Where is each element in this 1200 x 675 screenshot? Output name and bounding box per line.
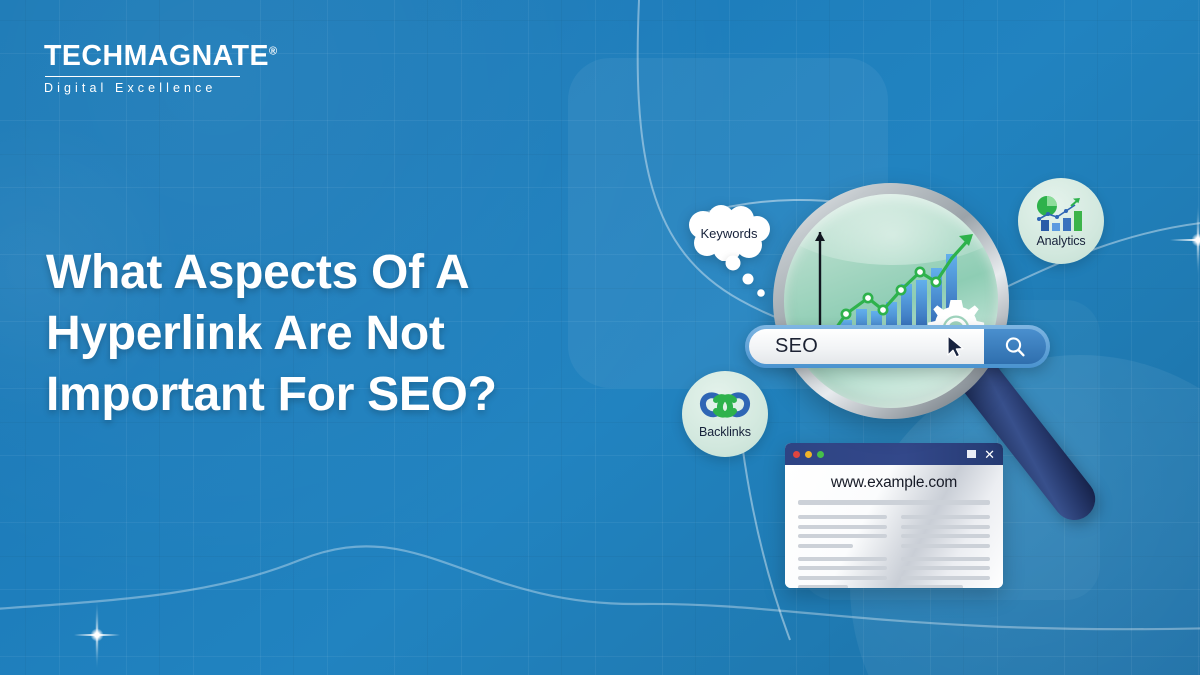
badge-analytics-label: Analytics — [1036, 234, 1085, 248]
skeleton-column-left — [798, 515, 887, 588]
banner-canvas: TECHMAGNATE® Digital Excellence What Asp… — [0, 0, 1200, 675]
brand-tagline: Digital Excellence — [44, 81, 344, 95]
search-icon — [1003, 335, 1027, 359]
cursor-arrow-icon — [946, 335, 966, 359]
registered-mark: ® — [269, 46, 278, 58]
magnifier-lens — [784, 194, 998, 408]
search-input-value: SEO — [775, 335, 818, 358]
badge-analytics[interactable]: Analytics — [1018, 178, 1104, 264]
logo-divider — [45, 76, 240, 78]
traffic-light-dots — [793, 451, 824, 458]
search-input[interactable]: SEO — [749, 329, 984, 364]
page-title: What Aspects Of A Hyperlink Are Not Impo… — [46, 243, 606, 426]
close-dot-icon[interactable] — [793, 451, 800, 458]
browser-window-mock: ✕ www.example.com — [785, 443, 1003, 588]
skeleton-column-right — [901, 515, 990, 588]
thought-bubble-label: Keywords — [681, 205, 777, 261]
maximize-icon[interactable] — [967, 450, 976, 458]
browser-titlebar: ✕ — [785, 443, 1003, 465]
analytics-chart-icon — [1033, 194, 1089, 232]
headline-line-2: Hyperlink Are Not — [46, 304, 606, 365]
brand-name-text: TECHMAGNATE — [44, 40, 269, 72]
keywords-thought-bubble: Keywords — [681, 205, 777, 261]
badge-backlinks[interactable]: Backlinks — [682, 371, 768, 457]
seo-illustration: ✕ www.example.com — [660, 155, 1200, 625]
window-controls: ✕ — [967, 448, 995, 461]
minimize-dot-icon[interactable] — [805, 451, 812, 458]
skeleton-headline-bar — [798, 500, 990, 505]
magnifier-ring — [773, 183, 1009, 419]
badge-backlinks-label: Backlinks — [699, 425, 751, 439]
browser-url-text: www.example.com — [798, 474, 990, 492]
brand-name: TECHMAGNATE® — [44, 42, 344, 71]
close-icon[interactable]: ✕ — [984, 448, 995, 461]
skeleton-columns — [798, 515, 990, 588]
chain-link-icon — [697, 389, 753, 423]
brand-logo[interactable]: TECHMAGNATE® Digital Excellence — [44, 42, 344, 95]
headline-line-1: What Aspects Of A — [46, 243, 606, 304]
browser-content: www.example.com — [785, 465, 1003, 588]
search-bar[interactable]: SEO — [745, 325, 1050, 368]
zoom-dot-icon[interactable] — [817, 451, 824, 458]
search-button[interactable] — [984, 329, 1046, 364]
headline-line-3: Important For SEO? — [46, 365, 606, 426]
